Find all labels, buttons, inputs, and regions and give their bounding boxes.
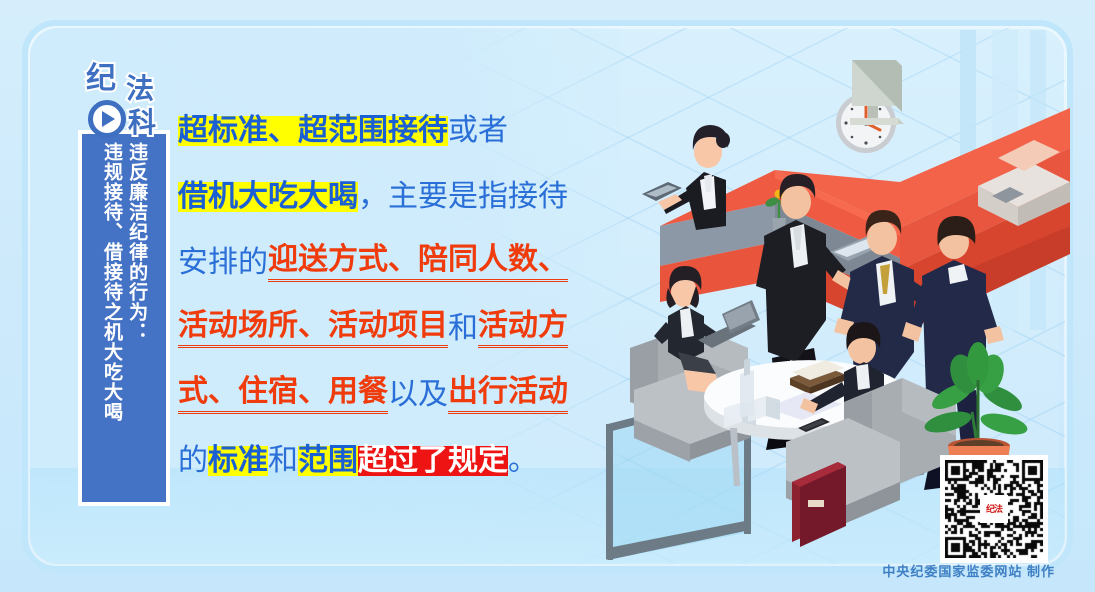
- program-logo: 纪 法 科: [84, 64, 170, 144]
- text-segment: 的: [178, 446, 208, 476]
- logo-char-fa: 法: [126, 74, 154, 104]
- text-segment: 标准: [208, 446, 268, 476]
- text-segment: 和: [268, 446, 298, 476]
- poster-canvas: 纪 法 科 违反廉洁纪律的行为： 违规接待、借接待之机大吃大喝 超标准、超范围接…: [0, 0, 1095, 592]
- paragraph-line: 安排的迎送方式、陪同人数、: [178, 230, 608, 296]
- footer-credit: 中央纪委国家监委网站 制作: [0, 561, 1055, 580]
- text-segment: 和: [448, 314, 478, 344]
- play-triangle-icon: [102, 111, 115, 127]
- text-segment: ，主要是指接待: [358, 182, 568, 212]
- vertical-title-banner: 违反廉洁纪律的行为： 违规接待、借接待之机大吃大喝: [82, 134, 166, 502]
- text-segment: 安排的: [178, 248, 268, 278]
- paragraph-line: 借机大吃大喝，主要是指接待: [178, 164, 608, 230]
- banner-column-right: 违反廉洁纪律的行为：: [125, 142, 148, 494]
- main-paragraph: 超标准、超范围接待或者借机大吃大喝，主要是指接待安排的迎送方式、陪同人数、活动场…: [178, 98, 608, 494]
- text-segment: 出行活动: [448, 377, 568, 414]
- text-segment: 范围: [298, 446, 358, 476]
- banner-column-left: 违规接待、借接待之机大吃大喝: [100, 142, 123, 494]
- text-segment: 超过了规定: [358, 446, 508, 476]
- text-segment: 或者: [448, 116, 508, 146]
- paragraph-line: 超标准、超范围接待或者: [178, 98, 608, 164]
- text-segment: 以及: [388, 380, 448, 410]
- text-segment: 活动方: [478, 311, 568, 348]
- text-segment: 。: [508, 446, 538, 476]
- qr-code[interactable]: 纪法: [940, 455, 1048, 563]
- text-segment: 迎送方式、陪同人数、: [268, 245, 568, 282]
- logo-char-ke: 科: [128, 108, 156, 138]
- text-segment: 借机大吃大喝: [178, 182, 358, 212]
- text-segment: 超标准、超范围接待: [178, 116, 448, 146]
- paragraph-line: 活动场所、活动项目和活动方: [178, 296, 608, 362]
- text-segment: 活动场所、活动项目: [178, 311, 448, 348]
- qr-center-logo: 纪法: [980, 495, 1008, 523]
- logo-char-ji: 纪: [86, 64, 116, 94]
- paragraph-line: 的标准和范围超过了规定。: [178, 428, 608, 494]
- text-segment: 式、住宿、用餐: [178, 377, 388, 414]
- paragraph-line: 式、住宿、用餐以及出行活动: [178, 362, 608, 428]
